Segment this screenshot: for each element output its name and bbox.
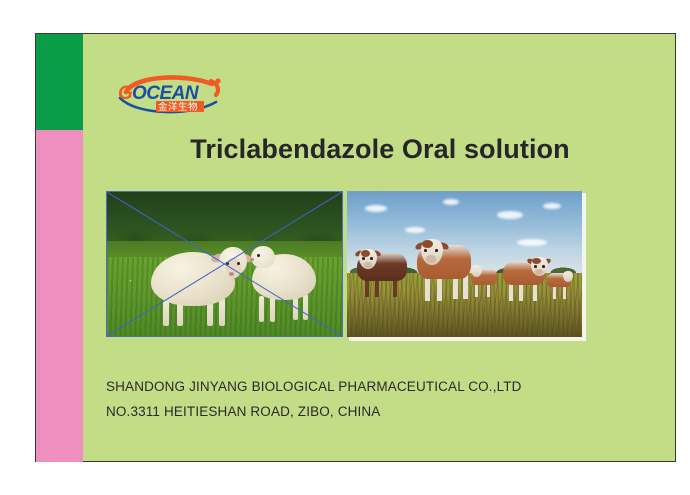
svg-text:OCEAN: OCEAN [132,83,200,104]
cow [353,249,409,297]
cow [467,265,497,297]
cattle-photo[interactable] [347,191,582,337]
sheep-scene [107,192,342,336]
sidebar-green-block [36,34,83,130]
image-row [106,191,654,341]
svg-text:G: G [118,83,133,104]
company-address: SHANDONG JINYANG BIOLOGICAL PHARMACEUTIC… [106,374,651,424]
sheep-photo[interactable] [106,191,343,337]
address-line-1: SHANDONG JINYANG BIOLOGICAL PHARMACEUTIC… [106,374,651,399]
page-title: Triclabendazole Oral solution [83,134,677,165]
cow [409,239,471,301]
cow [545,271,575,299]
cow [499,257,547,301]
sidebar-pink-block [36,130,83,462]
gocean-logo: G OCEAN 金洋生物 [112,72,237,117]
address-line-2: NO.3311 HEITIESHAN ROAD, ZIBO, CHINA [106,399,651,424]
presentation-slide: G OCEAN 金洋生物 Triclabendazole Oral soluti… [35,33,676,462]
svg-text:金洋生物: 金洋生物 [158,101,198,113]
